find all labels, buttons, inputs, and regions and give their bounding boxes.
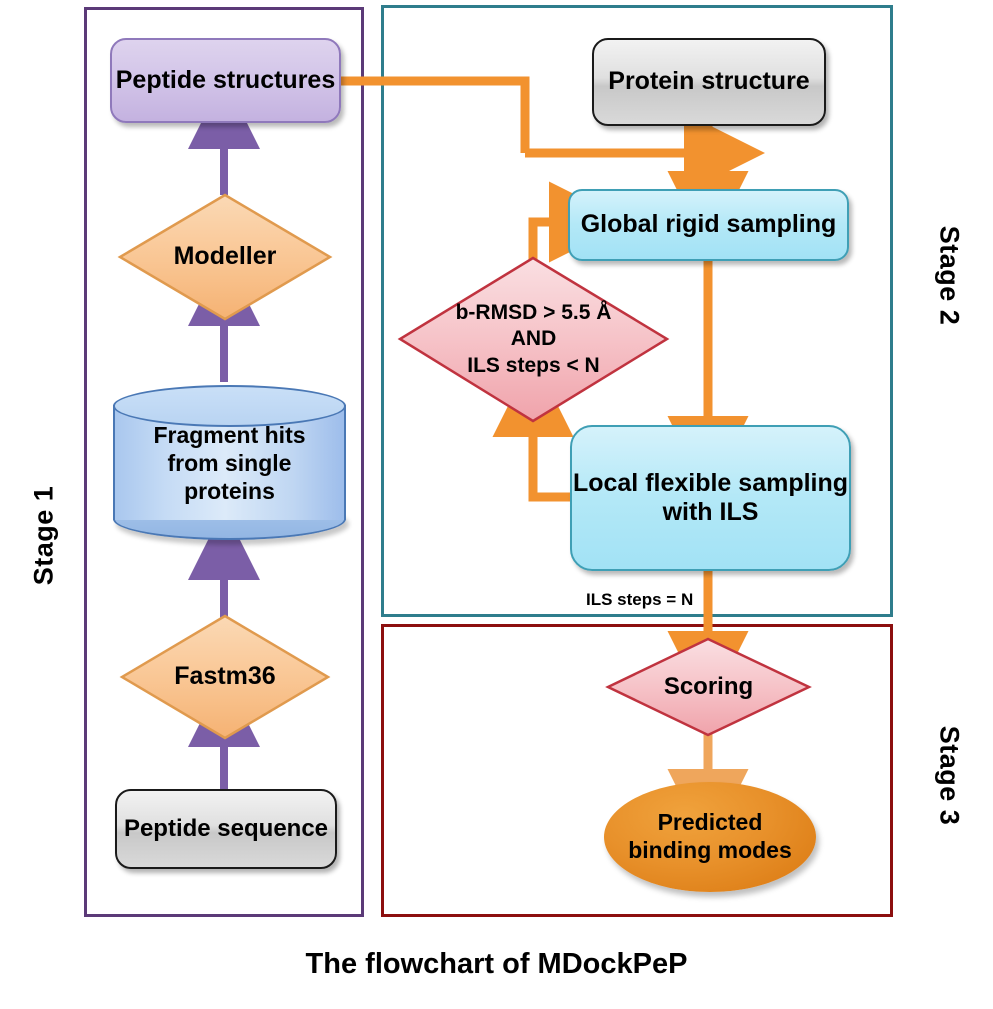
fragment-hits-line-1: Fragment hits [153,422,305,448]
node-predicted-binding-modes[interactable]: Predicted binding modes [604,782,816,892]
node-local-flexible-sampling[interactable]: Local flexible sampling with ILS [570,425,851,571]
predicted-line-2: binding modes [628,837,792,863]
figure-caption: The flowchart of MDockPeP [0,948,993,981]
node-global-rigid-sampling-label: Global rigid sampling [581,210,837,240]
node-peptide-structures[interactable]: Peptide structures [110,38,341,123]
node-protein-structure-label: Protein structure [608,67,809,97]
node-modeller-label: Modeller [118,193,332,321]
node-local-flexible-sampling-label: Local flexible sampling with ILS [573,469,848,528]
flowchart-canvas: Stage 1 Stage 2 Stage 3 [0,0,993,1009]
local-flexible-line-2: with ILS [663,498,759,526]
edge-label-ils-steps-equals-n: ILS steps = N [586,590,693,610]
stage-1-label: Stage 1 [29,476,60,596]
decision-line-1: b-RMSD > 5.5 Å [456,301,612,324]
node-protein-structure[interactable]: Protein structure [592,38,826,126]
fragment-hits-line-2: from single [168,450,292,476]
node-peptide-sequence-label: Peptide sequence [124,815,328,843]
node-fastm36-label: Fastm36 [120,614,330,740]
stage-3-label: Stage 3 [934,716,965,836]
node-peptide-sequence[interactable]: Peptide sequence [115,789,337,869]
predicted-line-1: Predicted [658,809,763,835]
stage-2-label: Stage 2 [934,216,965,336]
node-fragment-hits[interactable]: Fragment hits from single proteins [113,385,346,540]
node-fastm36[interactable]: Fastm36 [120,614,330,740]
node-decision-brmsd-label: b-RMSD > 5.5 Å AND ILS steps < N [398,256,669,423]
node-scoring[interactable]: Scoring [606,637,811,737]
decision-line-3: ILS steps < N [467,354,599,377]
local-flexible-line-1: Local flexible sampling [573,469,848,497]
node-scoring-label: Scoring [606,637,811,737]
node-modeller[interactable]: Modeller [118,193,332,321]
fragment-hits-line-3: proteins [184,478,275,504]
node-decision-brmsd[interactable]: b-RMSD > 5.5 Å AND ILS steps < N [398,256,669,423]
decision-line-2: AND [511,327,557,350]
node-global-rigid-sampling[interactable]: Global rigid sampling [568,189,849,261]
node-fragment-hits-label: Fragment hits from single proteins [113,413,346,513]
node-peptide-structures-label: Peptide structures [116,66,336,96]
node-predicted-binding-modes-label: Predicted binding modes [628,809,792,864]
